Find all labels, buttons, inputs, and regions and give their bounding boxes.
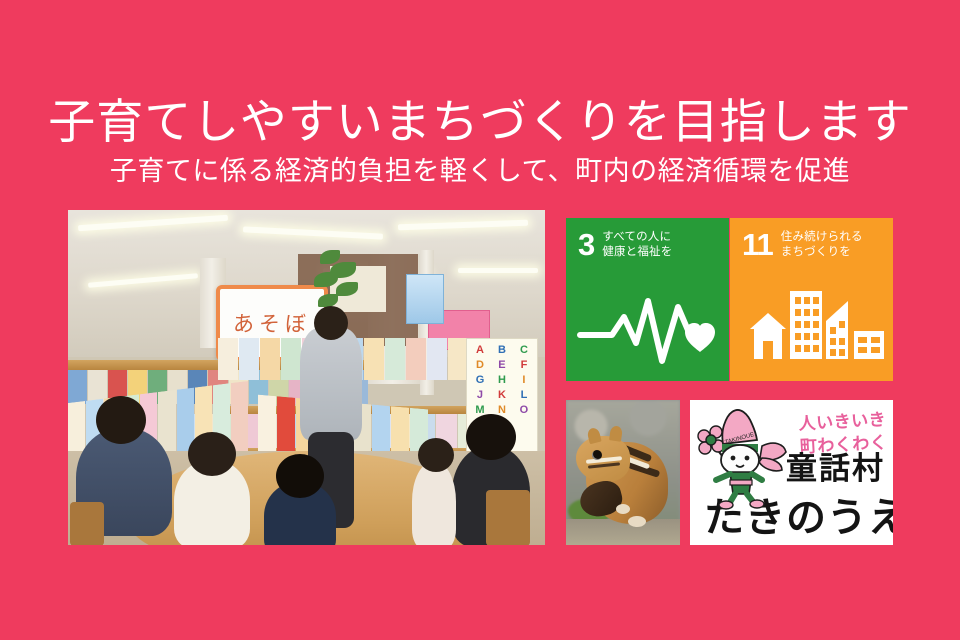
sdg-goal-11-line1: 住み続けられる [781, 230, 863, 245]
city-buildings-icon [730, 281, 893, 367]
sdg-goal-11-text: 住み続けられる まちづくりを [781, 230, 863, 260]
chipmunk-ear [609, 425, 623, 442]
sdg-goal-3-line1: すべての人に [602, 230, 672, 245]
sdg-goal-3-header: 3 すべての人に 健康と福祉を [578, 230, 721, 260]
sdg-goal-3-line2: 健康と福祉を [602, 245, 672, 260]
child-standing-right [412, 462, 456, 545]
sdg-goal-11-line2: まちづくりを [781, 245, 863, 260]
sdg-goal-11: 11 住み続けられる まちづくりを [730, 218, 893, 381]
chair [486, 490, 530, 545]
library-photo: あそぼ [68, 210, 545, 545]
seated-adult-right-head [466, 414, 516, 460]
sdg-goal-3-text: すべての人に 健康と福祉を [602, 230, 672, 260]
standing-adult-head [314, 306, 348, 340]
slide-root: 子育てしやすいまちづくりを目指します 子育てに係る経済的負担を軽くして、町内の経… [0, 0, 960, 640]
page-subtitle: 子育てに係る経済的負担を軽くして、町内の経済循環を促進 [0, 155, 960, 187]
child-right-head [276, 454, 324, 498]
sdg-goal-11-header: 11 住み続けられる まちづくりを [742, 230, 885, 260]
fairy-mascot-icon: TAKINOUE [696, 406, 792, 510]
seated-adult-left-head [96, 396, 146, 444]
chipmunk-photo [566, 400, 680, 545]
page-title: 子育てしやすいまちづくりを目指します [0, 96, 960, 148]
sdg-goal-11-number: 11 [742, 230, 773, 259]
chipmunk-paw [628, 516, 646, 527]
chipmunk-paw [616, 504, 630, 514]
chair [70, 502, 104, 545]
child-center-head [188, 432, 236, 476]
heartbeat-heart-icon [566, 281, 729, 367]
child-standing-right-head [418, 438, 454, 472]
sdg-goal-3-number: 3 [578, 230, 594, 259]
ceiling-light [458, 268, 538, 273]
chipmunk-eye [592, 450, 602, 460]
standing-adult [300, 328, 362, 440]
takinoue-logo: 人いきいき 町わくわく 童話村 たきのうえ TAKINOUE [690, 400, 893, 545]
sdg-goal-3: 3 すべての人に 健康と福祉を [566, 218, 729, 381]
logo-village-text: 童話村 [786, 452, 885, 486]
blue-poster [406, 274, 444, 324]
